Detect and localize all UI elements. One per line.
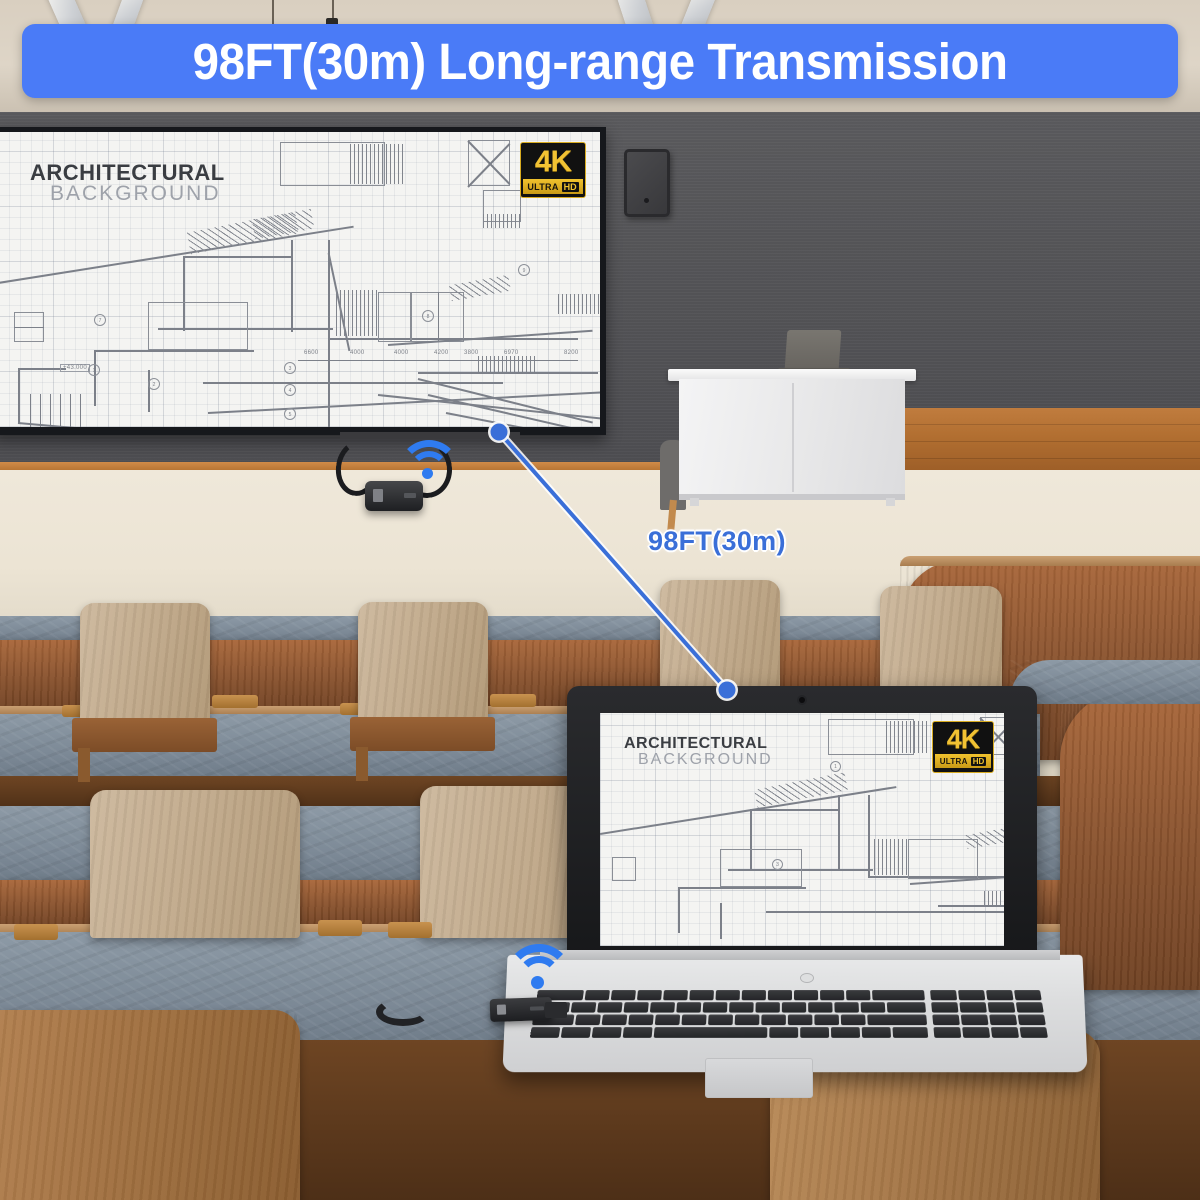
laptop-blueprint-tag-3: 3 [772, 859, 783, 870]
blueprint-dim-7: 8200 [564, 350, 579, 356]
wifi-signal-icon-receiver [398, 440, 460, 484]
podium-laptop-lid [785, 330, 842, 370]
blueprint-title-secondary: BACKGROUND [50, 182, 221, 206]
right-carpet-strip [1010, 660, 1200, 704]
blueprint-tag-7: 7 [94, 314, 106, 326]
seat-arm-4 [318, 920, 362, 936]
laptop-blueprint-title-secondary: BACKGROUND [638, 751, 773, 769]
podium-foot-left [690, 498, 699, 506]
seat-back-2 [358, 602, 488, 722]
rear-wood-barrier-edge [900, 556, 1200, 566]
laptop-trackpad[interactable] [705, 1058, 813, 1098]
blueprint-tag-8: 8 [422, 310, 434, 322]
laptop-power-button[interactable] [800, 973, 814, 983]
seat-arm-2b [490, 694, 536, 707]
resolution-badge-laptop: 4K ULTRA HD [932, 721, 994, 773]
wall-wainscot-right [903, 408, 1200, 470]
seat-arm-5 [388, 922, 432, 938]
seat-arm-1b [212, 695, 258, 708]
resolution-badge-screen: 4K ULTRA HD [520, 142, 586, 198]
presenter-laptop-lid: 1 2 3 ARCHITECTURAL BACKGROUND 4K ULTRA … [567, 686, 1037, 958]
projector-screen: 6600 4000 4000 4200 3800 6970 8200 +43.0… [0, 127, 606, 435]
badge-ultra-text: ULTRA [527, 182, 558, 192]
seat-back-3 [90, 790, 300, 938]
laptop-hinge [540, 950, 1060, 960]
blueprint-dim-1: 6600 [304, 350, 319, 356]
projector-screen-display: 6600 4000 4000 4200 3800 6970 8200 +43.0… [0, 132, 600, 427]
seat-back-5 [660, 580, 780, 696]
wall-mounted-speaker [624, 149, 670, 217]
seat-back-6 [880, 586, 1002, 700]
laptop-badge-ultra-text: ULTRA [940, 757, 968, 766]
seat-back-1 [80, 603, 210, 723]
blueprint-dim-5: 3800 [464, 350, 479, 356]
blueprint-dim-6: 6970 [504, 350, 519, 356]
speaker-indicator-dot [644, 198, 649, 203]
blueprint-dim-4: 4200 [434, 350, 449, 356]
badge-4k-text: 4K [521, 143, 585, 177]
blueprint-tag-3: 3 [284, 362, 296, 374]
podium-base [679, 494, 905, 500]
headline-text: 98FT(30m) Long-range Transmission [193, 32, 1008, 91]
laptop-keyboard[interactable] [528, 990, 1058, 1048]
laptop-badge-4k-text: 4K [933, 722, 993, 753]
podium-door-split [792, 383, 794, 492]
transmitter-cable [376, 998, 430, 1026]
transmitter-led [497, 1005, 506, 1015]
laptop-blueprint-tag-1: 1 [830, 761, 841, 772]
laptop-badge-hd-text: HD [971, 757, 987, 766]
blueprint-tag-4: 4 [284, 384, 296, 396]
blueprint-graphic-screen: 6600 4000 4000 4200 3800 6970 8200 +43.0… [0, 132, 600, 427]
blueprint-tag-5: 5 [284, 408, 296, 420]
blueprint-graphic-laptop: 1 2 3 ARCHITECTURAL BACKGROUND 4K ULTRA … [600, 713, 1004, 946]
product-marketing-image: 6600 4000 4000 4200 3800 6970 8200 +43.0… [0, 0, 1200, 1200]
seat-leg-1 [78, 748, 90, 782]
laptop-display[interactable]: 1 2 3 ARCHITECTURAL BACKGROUND 4K ULTRA … [600, 713, 1004, 946]
screen-mount-bar [340, 432, 520, 439]
seat-arm-3 [14, 924, 58, 940]
right-foreground-desk [1060, 690, 1200, 990]
seat-back-foreground-left [0, 1010, 300, 1200]
blueprint-dim-3: 4000 [394, 350, 409, 356]
blueprint-tag-2: 2 [148, 378, 160, 390]
blueprint-elevation: +43.000 [60, 364, 90, 372]
wifi-signal-icon-transmitter [505, 944, 573, 992]
headline-banner: 98FT(30m) Long-range Transmission [22, 24, 1178, 98]
seat-cushion-1 [72, 718, 217, 752]
blueprint-tag-9: 9 [518, 264, 530, 276]
blueprint-dim-2: 4000 [350, 350, 365, 356]
badge-hd-text: HD [562, 182, 579, 192]
blueprint-tag-1: 1 [88, 364, 100, 376]
receiver-led [373, 489, 383, 502]
seat-cushion-2 [350, 717, 495, 751]
laptop-webcam [799, 697, 805, 703]
podium-body [679, 379, 905, 498]
distance-label: 98FT(30m) [648, 526, 786, 557]
seat-leg-2 [356, 747, 368, 781]
podium-foot-right [886, 498, 895, 506]
